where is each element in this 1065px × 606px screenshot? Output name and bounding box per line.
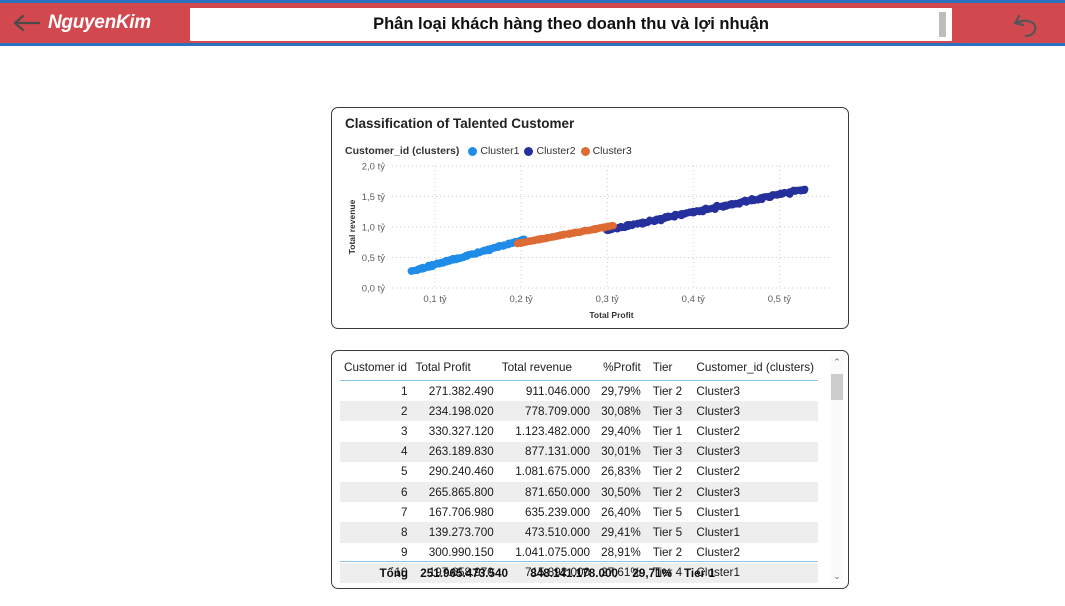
cell-cluster: Cluster3 — [688, 381, 818, 402]
page-title: Phân loại khách hàng theo doanh thu và l… — [373, 15, 769, 34]
table-scroll-viewport[interactable]: Customer id Total Profit Total revenue %… — [340, 357, 827, 583]
cell-total-profit: 263.189.830 — [412, 442, 498, 462]
table-total-row: Tổng 251.965.473.540 848.141.178.000 29,… — [340, 561, 818, 582]
total-pct: 29,71% — [622, 565, 676, 582]
cell-total-revenue: 778.709.000 — [498, 401, 594, 421]
total-tier: Tier 1 — [676, 565, 722, 582]
cell-tier: Tier 3 — [645, 401, 689, 421]
total-revenue: 848.141.178.000 — [512, 565, 622, 582]
total-cluster — [722, 565, 818, 582]
col-customer-clusters[interactable]: Customer_id (clusters) — [688, 357, 818, 381]
svg-text:2,0 tỷ: 2,0 tỷ — [362, 162, 385, 173]
total-label: Tổng — [340, 565, 412, 582]
chart-title: Classification of Talented Customer — [345, 116, 574, 131]
undo-arrow-icon[interactable] — [1011, 12, 1041, 40]
cell-customer-id: 6 — [340, 482, 412, 502]
cell-tier: Tier 2 — [645, 381, 689, 402]
legend-label-cluster2: Cluster2 — [536, 145, 575, 157]
table-row[interactable]: 2234.198.020778.709.00030,08%Tier 3Clust… — [340, 401, 818, 421]
col-pct-profit[interactable]: %Profit — [594, 357, 645, 381]
table-row[interactable]: 6265.865.800871.650.00030,50%Tier 2Clust… — [340, 482, 818, 502]
legend-item-cluster3[interactable]: Cluster3 — [581, 145, 632, 157]
svg-text:0,5 tỷ: 0,5 tỷ — [362, 253, 385, 264]
col-total-revenue[interactable]: Total revenue — [498, 357, 594, 381]
cell-total-revenue: 1.123.482.000 — [498, 421, 594, 441]
cell-customer-id: 7 — [340, 502, 412, 522]
cell-cluster: Cluster2 — [688, 543, 818, 563]
app-header-bar: NguyenKim Phân loại khách hàng theo doan… — [0, 0, 1065, 46]
scroll-down-icon[interactable]: ⌄ — [833, 570, 841, 584]
cell-total-revenue: 473.510.000 — [498, 522, 594, 542]
cell-tier: Tier 5 — [645, 502, 689, 522]
cell-cluster: Cluster2 — [688, 462, 818, 482]
table-row[interactable]: 7167.706.980635.239.00026,40%Tier 5Clust… — [340, 502, 818, 522]
table-row[interactable]: 3330.327.1201.123.482.00029,40%Tier 1Clu… — [340, 421, 818, 441]
cell-total-profit: 290.240.460 — [412, 462, 498, 482]
cell-tier: Tier 5 — [645, 522, 689, 542]
cell-total-revenue: 877.131.000 — [498, 442, 594, 462]
cell-pct-profit: 28,91% — [594, 543, 645, 563]
cell-customer-id: 8 — [340, 522, 412, 542]
col-total-profit[interactable]: Total Profit — [412, 357, 498, 381]
svg-text:1,0 tỷ: 1,0 tỷ — [362, 223, 385, 234]
chart-plot-area[interactable]: 0,0 tỷ0,5 tỷ1,0 tỷ1,5 tỷ2,0 tỷ0,1 tỷ0,2 … — [345, 160, 837, 322]
legend-swatch-cluster2 — [524, 147, 533, 156]
cell-customer-id: 4 — [340, 442, 412, 462]
svg-text:0,0 tỷ: 0,0 tỷ — [362, 284, 385, 295]
svg-text:0,2 tỷ: 0,2 tỷ — [509, 294, 532, 305]
table-scrollbar[interactable]: ⌃ ⌄ — [830, 356, 844, 584]
cell-customer-id: 3 — [340, 421, 412, 441]
cell-tier: Tier 2 — [645, 462, 689, 482]
cell-tier: Tier 2 — [645, 482, 689, 502]
cell-cluster: Cluster1 — [688, 502, 818, 522]
legend-item-cluster1[interactable]: Cluster1 — [468, 145, 519, 157]
table-body: 1271.382.490911.046.00029,79%Tier 2Clust… — [340, 381, 818, 583]
back-arrow-icon[interactable] — [12, 12, 40, 34]
svg-text:1,5 tỷ: 1,5 tỷ — [362, 192, 385, 203]
cell-total-profit: 234.198.020 — [412, 401, 498, 421]
page-title-box: Phân loại khách hàng theo doanh thu và l… — [190, 8, 952, 41]
cell-pct-profit: 30,50% — [594, 482, 645, 502]
svg-text:0,3 tỷ: 0,3 tỷ — [596, 294, 619, 305]
cell-total-revenue: 1.081.675.000 — [498, 462, 594, 482]
col-customer-id[interactable]: Customer id — [340, 357, 412, 381]
legend-swatch-cluster3 — [581, 147, 590, 156]
cell-tier: Tier 1 — [645, 421, 689, 441]
cell-total-profit: 139.273.700 — [412, 522, 498, 542]
customer-table: Customer id Total Profit Total revenue %… — [340, 357, 818, 583]
cell-cluster: Cluster3 — [688, 442, 818, 462]
cell-customer-id: 5 — [340, 462, 412, 482]
table-row[interactable]: 8139.273.700473.510.00029,41%Tier 5Clust… — [340, 522, 818, 542]
brand-area[interactable]: NguyenKim — [0, 3, 180, 43]
scroll-up-icon[interactable]: ⌃ — [833, 356, 841, 370]
legend-item-cluster2[interactable]: Cluster2 — [524, 145, 575, 157]
cell-customer-id: 1 — [340, 381, 412, 402]
cell-total-revenue: 911.046.000 — [498, 381, 594, 402]
scatter-chart-card[interactable]: Classification of Talented Customer Cust… — [331, 107, 849, 329]
table-row[interactable]: 4263.189.830877.131.00030,01%Tier 3Clust… — [340, 442, 818, 462]
cell-total-revenue: 1.041.075.000 — [498, 543, 594, 563]
table-header: Customer id Total Profit Total revenue %… — [340, 357, 818, 381]
cell-pct-profit: 30,08% — [594, 401, 645, 421]
cell-total-profit: 167.706.980 — [412, 502, 498, 522]
table-header-row: Customer id Total Profit Total revenue %… — [340, 357, 818, 381]
cell-pct-profit: 26,40% — [594, 502, 645, 522]
cell-tier: Tier 3 — [645, 442, 689, 462]
brand-name: NguyenKim — [48, 12, 151, 34]
cell-customer-id: 2 — [340, 401, 412, 421]
cell-total-profit: 330.327.120 — [412, 421, 498, 441]
svg-text:Total Profit: Total Profit — [589, 310, 633, 320]
legend-swatch-cluster1 — [468, 147, 477, 156]
undo-button[interactable] — [1011, 3, 1041, 49]
cell-pct-profit: 29,41% — [594, 522, 645, 542]
svg-text:0,5 tỷ: 0,5 tỷ — [768, 294, 791, 305]
svg-text:Total revenue: Total revenue — [347, 199, 357, 254]
chart-legend: Customer_id (clusters) Cluster1 Cluster2… — [345, 145, 632, 157]
col-tier[interactable]: Tier — [645, 357, 689, 381]
customer-table-card[interactable]: Customer id Total Profit Total revenue %… — [331, 350, 849, 589]
cell-total-profit: 271.382.490 — [412, 381, 498, 402]
cell-customer-id: 9 — [340, 543, 412, 563]
cell-total-profit: 300.990.150 — [412, 543, 498, 563]
cell-total-revenue: 871.650.000 — [498, 482, 594, 502]
cell-pct-profit: 26,83% — [594, 462, 645, 482]
svg-text:0,4 tỷ: 0,4 tỷ — [682, 294, 705, 305]
cell-cluster: Cluster3 — [688, 482, 818, 502]
total-profit: 251.965.473.540 — [412, 565, 512, 582]
cell-total-profit: 265.865.800 — [412, 482, 498, 502]
cell-cluster: Cluster3 — [688, 401, 818, 421]
legend-label-cluster3: Cluster3 — [593, 145, 632, 157]
cell-cluster: Cluster2 — [688, 421, 818, 441]
table-row[interactable]: 5290.240.4601.081.675.00026,83%Tier 2Clu… — [340, 462, 818, 482]
cell-total-revenue: 635.239.000 — [498, 502, 594, 522]
table-row[interactable]: 1271.382.490911.046.00029,79%Tier 2Clust… — [340, 381, 818, 402]
legend-title: Customer_id (clusters) — [345, 145, 459, 157]
svg-text:0,1 tỷ: 0,1 tỷ — [423, 294, 446, 305]
table-row[interactable]: 9300.990.1501.041.075.00028,91%Tier 2Clu… — [340, 543, 818, 563]
cell-pct-profit: 29,40% — [594, 421, 645, 441]
cell-cluster: Cluster1 — [688, 522, 818, 542]
scrollbar-track[interactable] — [831, 370, 843, 570]
title-scroll-grip[interactable] — [939, 12, 946, 37]
legend-label-cluster1: Cluster1 — [480, 145, 519, 157]
scatter-plot-svg: 0,0 tỷ0,5 tỷ1,0 tỷ1,5 tỷ2,0 tỷ0,1 tỷ0,2 … — [345, 160, 837, 322]
cell-pct-profit: 30,01% — [594, 442, 645, 462]
cell-tier: Tier 2 — [645, 543, 689, 563]
cell-pct-profit: 29,79% — [594, 381, 645, 402]
scrollbar-thumb[interactable] — [831, 374, 843, 400]
